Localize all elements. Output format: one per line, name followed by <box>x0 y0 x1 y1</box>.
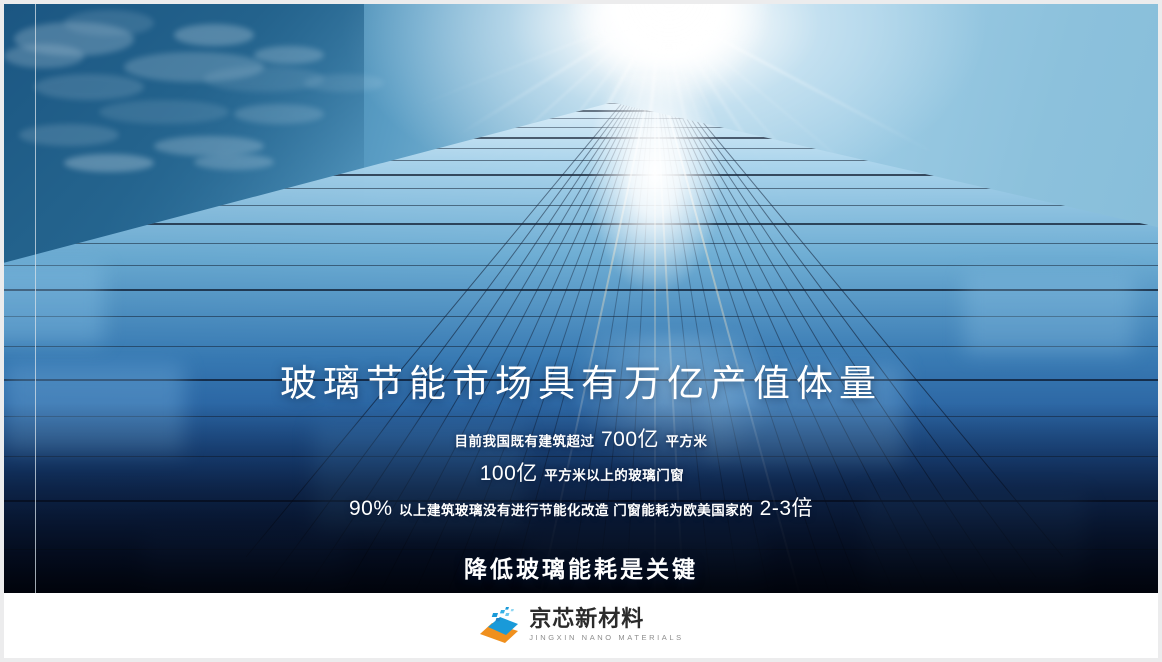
stat-2-suffix: 平方米以上的玻璃门窗 <box>544 468 684 483</box>
stat-3-suffix: 以上建筑玻璃没有进行节能化改造 门窗能耗为欧美国家的 <box>399 503 753 518</box>
slide-canvas: 玻璃节能市场具有万亿产值体量 目前我国既有建筑超过 700亿 平方米 100亿 … <box>4 4 1158 593</box>
conclusion-text: 降低玻璃能耗是关键 <box>4 550 1158 584</box>
footer-bar: 京芯新材料 JINGXIN NANO MATERIALS <box>4 593 1158 658</box>
brand-name-en: JINGXIN NANO MATERIALS <box>529 634 684 642</box>
stat-1-number: 700亿 <box>599 428 661 451</box>
brand-name-cn: 京芯新材料 <box>529 609 684 631</box>
stat-line-1: 目前我国既有建筑超过 700亿 平方米 <box>4 425 1158 455</box>
stat-1-suffix: 平方米 <box>665 434 707 449</box>
page-title: 玻璃节能市场具有万亿产值体量 <box>4 364 1158 405</box>
pixel-blocks-logo-icon <box>478 607 520 645</box>
stat-3-number: 90% <box>347 497 395 520</box>
stat-3-number-2: 2-3倍 <box>758 497 815 520</box>
stat-line-3: 90% 以上建筑玻璃没有进行节能化改造 门窗能耗为欧美国家的 2-3倍 <box>4 494 1158 524</box>
stat-2-number: 100亿 <box>478 462 540 485</box>
slide-text-block: 玻璃节能市场具有万亿产值体量 目前我国既有建筑超过 700亿 平方米 100亿 … <box>4 364 1158 584</box>
stat-1-prefix: 目前我国既有建筑超过 <box>455 434 595 449</box>
brand-text: 京芯新材料 JINGXIN NANO MATERIALS <box>529 609 684 642</box>
brand-logo: 京芯新材料 JINGXIN NANO MATERIALS <box>478 607 684 645</box>
stat-line-2: 100亿 平方米以上的玻璃门窗 <box>4 459 1158 489</box>
